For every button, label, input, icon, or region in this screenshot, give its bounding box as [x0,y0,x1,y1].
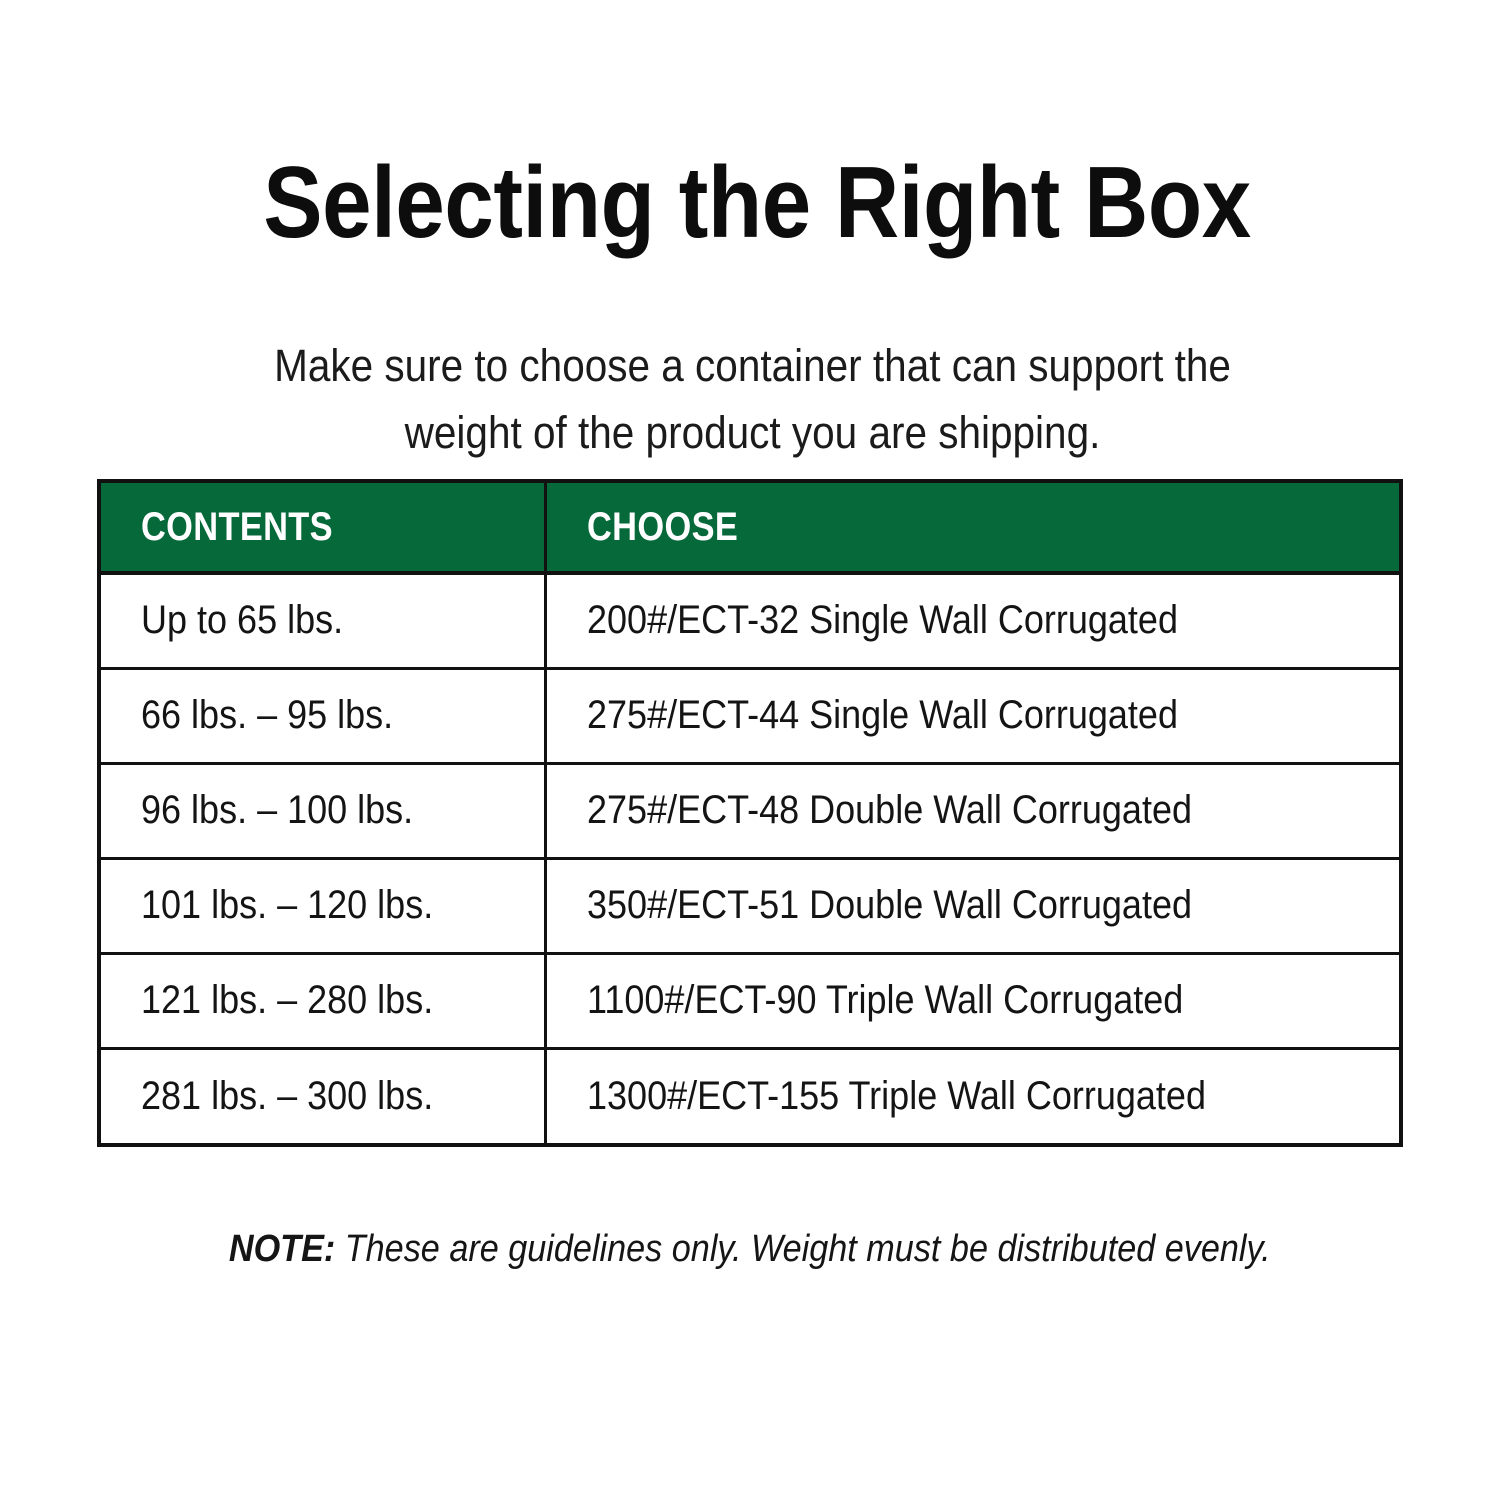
cell-contents-text: 66 lbs. – 95 lbs. [141,693,393,738]
box-selection-table: CONTENTS CHOOSE Up to 65 lbs. 200#/ECT-3… [97,479,1403,1147]
cell-choose: 1300#/ECT-155 Triple Wall Corrugated [545,1048,1399,1143]
table-header: CONTENTS CHOOSE [101,483,1399,573]
cell-contents: 66 lbs. – 95 lbs. [101,668,545,763]
table-row: 66 lbs. – 95 lbs. 275#/ECT-44 Single Wal… [101,668,1399,763]
cell-contents-text: 96 lbs. – 100 lbs. [141,788,413,833]
page-subtitle: Make sure to choose a container that can… [210,333,1295,466]
column-header-contents: CONTENTS [101,483,545,573]
table-body: Up to 65 lbs. 200#/ECT-32 Single Wall Co… [101,573,1399,1143]
cell-contents: 121 lbs. – 280 lbs. [101,953,545,1048]
cell-choose-text: 200#/ECT-32 Single Wall Corrugated [587,598,1178,643]
cell-choose-text: 275#/ECT-44 Single Wall Corrugated [587,693,1178,738]
infographic-page: Selecting the Right Box Make sure to cho… [0,0,1500,1500]
cell-contents: 96 lbs. – 100 lbs. [101,763,545,858]
cell-choose: 275#/ECT-48 Double Wall Corrugated [545,763,1399,858]
table-row: 96 lbs. – 100 lbs. 275#/ECT-48 Double Wa… [101,763,1399,858]
table-row: 121 lbs. – 280 lbs. 1100#/ECT-90 Triple … [101,953,1399,1048]
cell-contents: 101 lbs. – 120 lbs. [101,858,545,953]
cell-choose-text: 350#/ECT-51 Double Wall Corrugated [587,883,1192,928]
column-header-choose-label: CHOOSE [587,505,738,550]
cell-contents: 281 lbs. – 300 lbs. [101,1048,545,1143]
cell-contents: Up to 65 lbs. [101,573,545,668]
note-label: NOTE: [229,1228,335,1270]
column-header-contents-label: CONTENTS [141,505,333,550]
cell-choose-text: 1300#/ECT-155 Triple Wall Corrugated [587,1074,1206,1119]
cell-choose-text: 1100#/ECT-90 Triple Wall Corrugated [587,978,1183,1023]
cell-contents-text: 121 lbs. – 280 lbs. [141,978,433,1023]
cell-choose-text: 275#/ECT-48 Double Wall Corrugated [587,788,1192,833]
table-row: 101 lbs. – 120 lbs. 350#/ECT-51 Double W… [101,858,1399,953]
note-inner: NOTE: These are guidelines only. Weight … [229,1228,1271,1271]
cell-choose: 350#/ECT-51 Double Wall Corrugated [545,858,1399,953]
table-row: 281 lbs. – 300 lbs. 1300#/ECT-155 Triple… [101,1048,1399,1143]
cell-contents-text: Up to 65 lbs. [141,598,343,643]
cell-choose: 200#/ECT-32 Single Wall Corrugated [545,573,1399,668]
table-header-row: CONTENTS CHOOSE [101,483,1399,573]
note-text: These are guidelines only. Weight must b… [336,1228,1271,1270]
cell-choose: 1100#/ECT-90 Triple Wall Corrugated [545,953,1399,1048]
column-header-choose: CHOOSE [545,483,1399,573]
cell-contents-text: 101 lbs. – 120 lbs. [141,883,433,928]
cell-choose: 275#/ECT-44 Single Wall Corrugated [545,668,1399,763]
page-title: Selecting the Right Box [176,150,1338,257]
note-footer: NOTE: These are guidelines only. Weight … [97,1228,1403,1271]
table: CONTENTS CHOOSE Up to 65 lbs. 200#/ECT-3… [101,483,1399,1143]
cell-contents-text: 281 lbs. – 300 lbs. [141,1074,433,1119]
table-row: Up to 65 lbs. 200#/ECT-32 Single Wall Co… [101,573,1399,668]
